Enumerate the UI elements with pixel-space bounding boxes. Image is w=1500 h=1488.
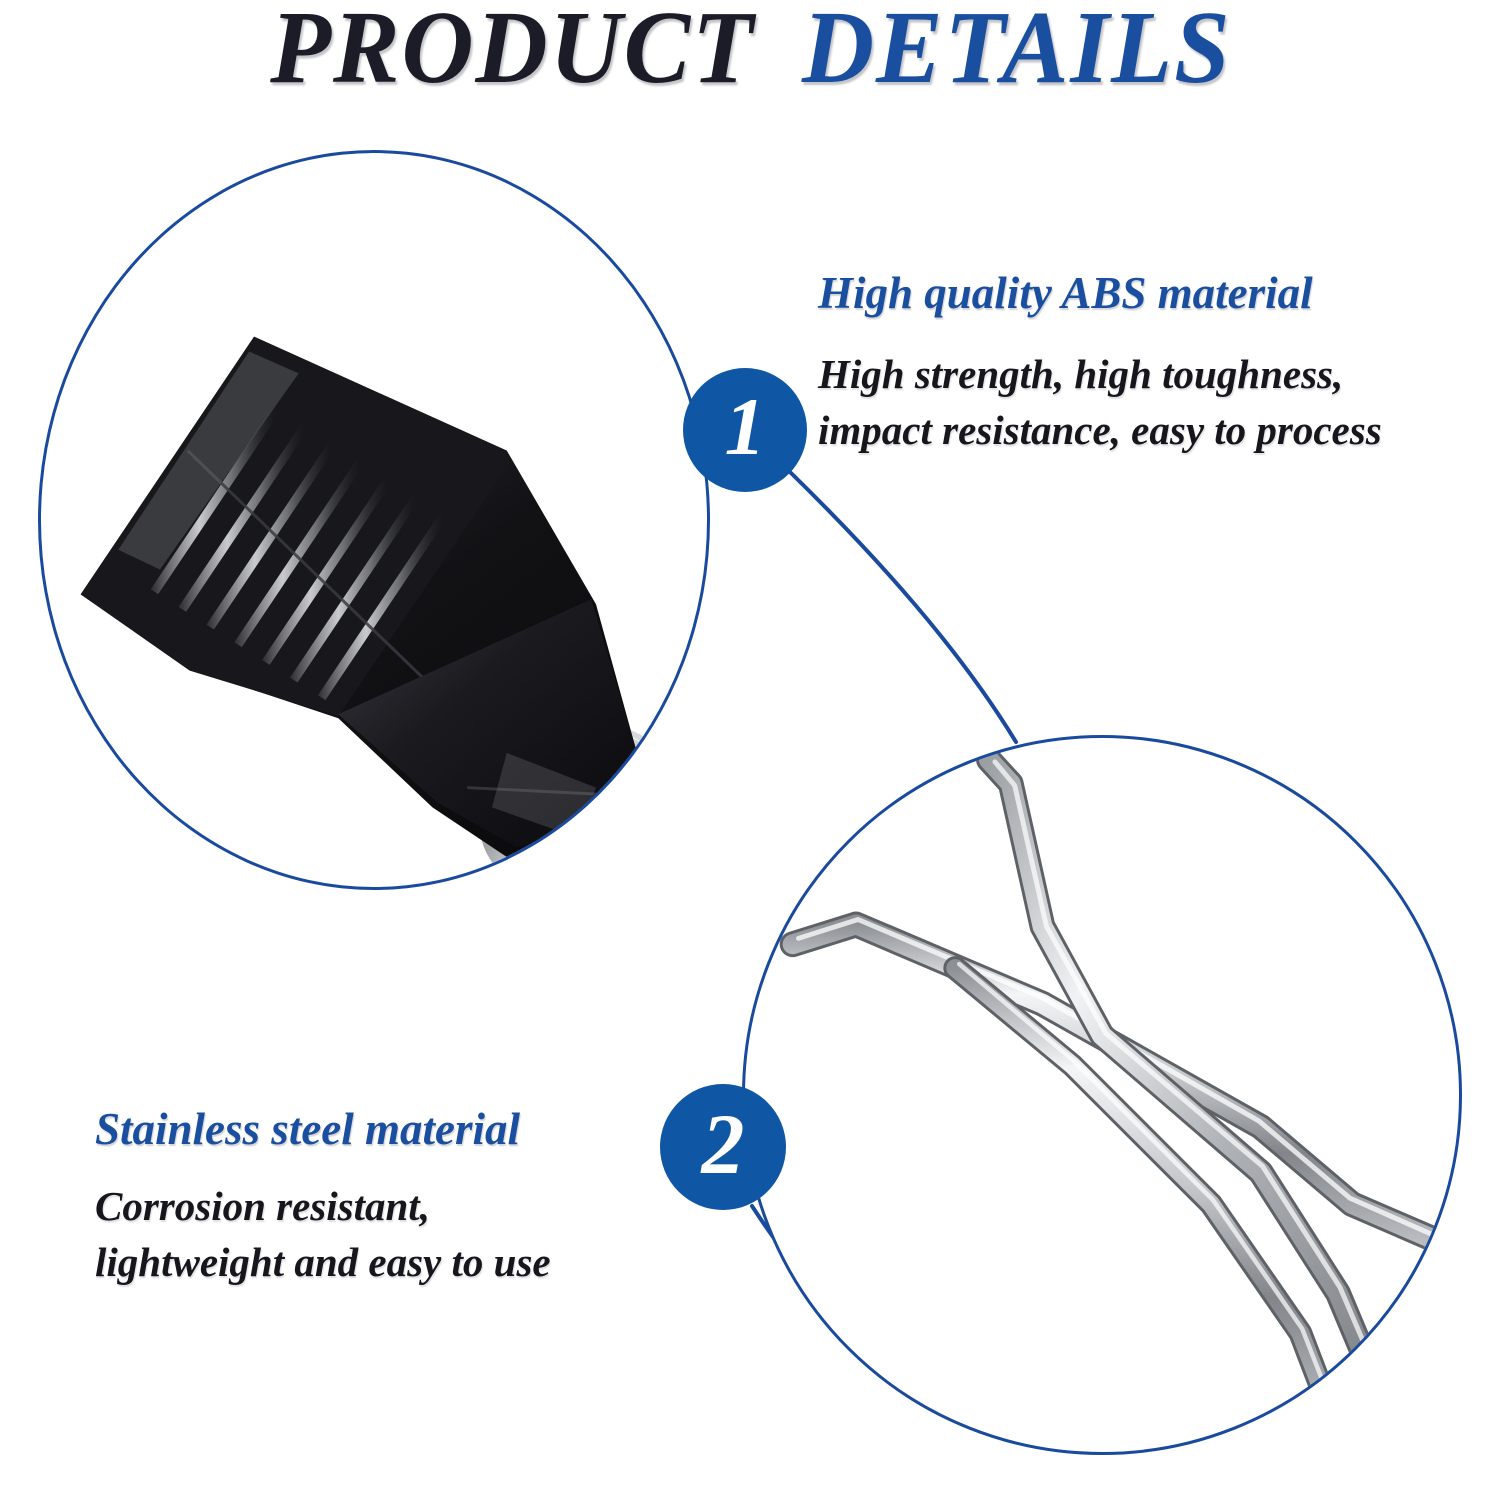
product-details-infographic: PRODUCT DETAILS (0, 0, 1500, 1488)
connector-badge1-to-circle2 (790, 472, 1016, 742)
callout-2-body-line-2: lightweight and easy to use (95, 1234, 551, 1291)
callout-badge-2-number: 2 (702, 1101, 745, 1187)
abs-zipper-pull-illustration (41, 153, 707, 887)
product-photo-circle-steel (742, 735, 1462, 1455)
zipper-pull-body (81, 337, 636, 857)
callout-2-body-line-1: Corrosion resistant, (95, 1178, 551, 1235)
callout-2-body: Corrosion resistant, lightweight and eas… (95, 1178, 551, 1291)
callout-1-body-line-1: High strength, high toughness, (818, 346, 1382, 403)
callout-badge-2: 2 (660, 1084, 786, 1210)
callout-2-heading: Stainless steel material (95, 1104, 551, 1156)
callout-1-heading: High quality ABS material (818, 268, 1382, 320)
callout-1-body-line-2: impact resistance, easy to process (818, 402, 1382, 459)
product-photo-circle-abs (38, 150, 710, 890)
page-title: PRODUCT DETAILS (0, 0, 1500, 104)
callout-badge-1-number: 1 (725, 386, 766, 468)
callout-badge-1: 1 (683, 368, 807, 492)
callout-1-body: High strength, high toughness, impact re… (818, 346, 1382, 459)
page-title-product: PRODUCT (270, 0, 755, 104)
callout-text-2: Stainless steel material Corrosion resis… (95, 1104, 551, 1291)
steel-wire-rear (793, 919, 1440, 1241)
page-title-details: DETAILS (802, 0, 1232, 104)
stainless-wire-pins-illustration (745, 738, 1459, 1452)
callout-text-1: High quality ABS material High strength,… (818, 268, 1382, 459)
